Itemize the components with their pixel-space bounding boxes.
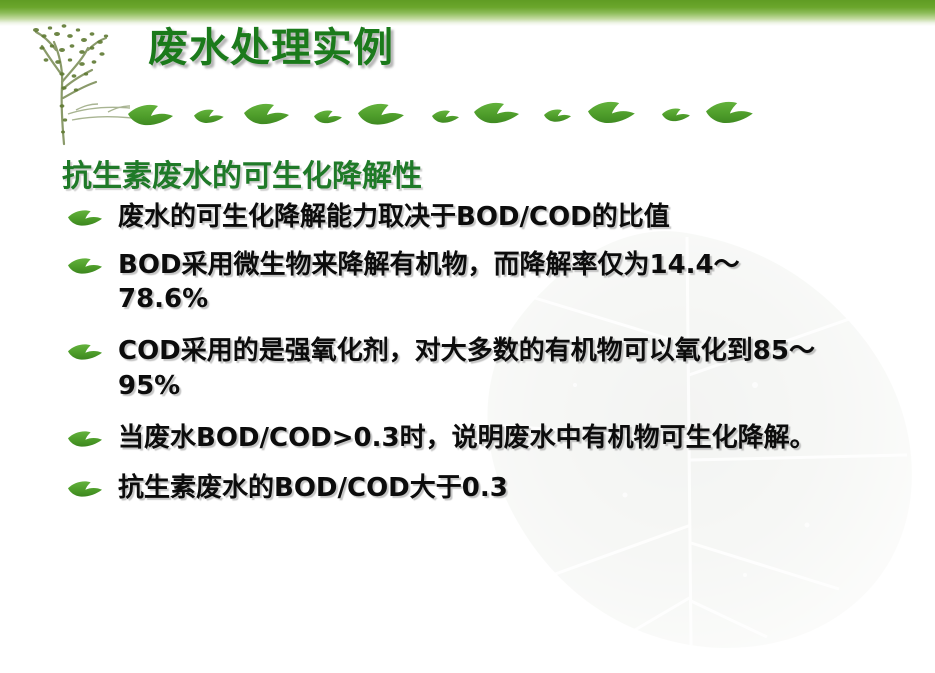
list-item-text: 废水的可生化降解能力取决于BOD/COD的比值 (118, 200, 915, 234)
list-item: 废水的可生化降解能力取决于BOD/COD的比值 (0, 200, 935, 234)
list-item: 抗生素废水的BOD/COD大于0.3 (0, 471, 935, 505)
leaf-bullet-icon (68, 208, 102, 228)
slide-canvas: 废水处理实例 (0, 0, 935, 673)
list-item-text: BOD采用微生物来降解有机物，而降解率仅为14.4～78.6% (118, 248, 818, 317)
list-item: 当废水BOD/COD>0.3时，说明废水中有机物可生化降解。 (0, 421, 935, 455)
list-item: BOD采用微生物来降解有机物，而降解率仅为14.4～78.6% (0, 248, 935, 317)
slide-content: 抗生素废水的可生化降解性 废水的可生化降解能力取决于BOD/COD的比值 (0, 158, 935, 506)
list-item-text: 当废水BOD/COD>0.3时，说明废水中有机物可生化降解。 (118, 421, 818, 455)
list-item-text: 抗生素废水的BOD/COD大于0.3 (118, 471, 915, 505)
leaf-divider-icon (126, 98, 916, 138)
header-accent-band (0, 0, 935, 26)
tree-illustration-icon (12, 16, 136, 146)
section-heading: 抗生素废水的可生化降解性 (62, 158, 935, 196)
list-item: COD采用的是强氧化剂，对大多数的有机物可以氧化到85～95% (0, 334, 935, 403)
page-title: 废水处理实例 (148, 27, 394, 69)
list-item-text: COD采用的是强氧化剂，对大多数的有机物可以氧化到85～95% (118, 334, 818, 403)
leaf-bullet-icon (68, 429, 102, 449)
leaf-bullet-icon (68, 256, 102, 276)
bullet-list: 废水的可生化降解能力取决于BOD/COD的比值 BOD采用微生物来降解有机物，而… (0, 200, 935, 506)
leaf-bullet-icon (68, 342, 102, 362)
leaf-bullet-icon (68, 479, 102, 499)
